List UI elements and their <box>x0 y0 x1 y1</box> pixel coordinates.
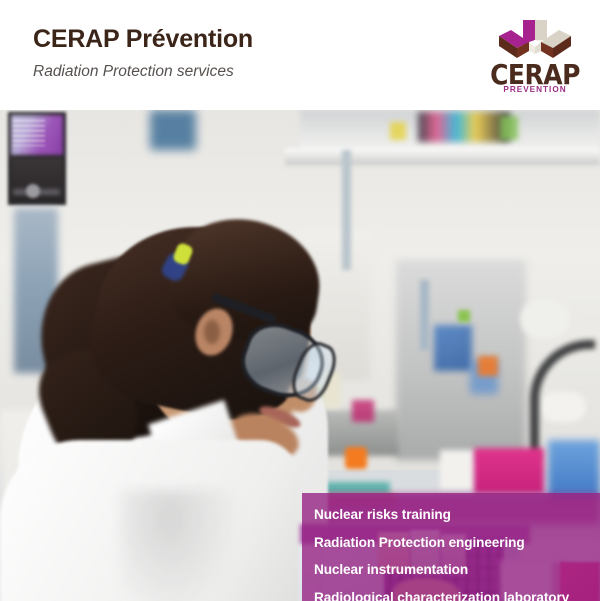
lab-orange-cap <box>478 356 498 376</box>
shelf-items <box>418 112 510 142</box>
logo-tagline: PREVENTION <box>487 86 583 94</box>
lab-blue-cylinder <box>548 440 600 500</box>
lab-green-indicator <box>458 310 470 322</box>
lab-blue-knob <box>434 325 472 371</box>
cerap-logo[interactable]: CERAP PREVENTION <box>487 18 583 100</box>
shelf-bottle-yellow <box>390 122 406 140</box>
shelf-bottle-green <box>500 116 518 140</box>
lab-tubing-2 <box>420 280 429 350</box>
brochure-page: CERAP Prévention Radiation Protection se… <box>0 0 600 601</box>
lab-bottle-pink <box>352 400 374 422</box>
lab-flask-white <box>440 450 476 490</box>
page-title: CERAP Prévention <box>33 26 253 54</box>
hero-photo: Nuclear risks training Radiation Protect… <box>0 110 600 601</box>
service-item: Radiation Protection engineering <box>314 535 590 552</box>
wall-poster-text-lines <box>13 120 45 146</box>
lab-flask-pink <box>474 448 544 494</box>
header-title-block: CERAP Prévention Radiation Protection se… <box>33 26 253 81</box>
lab-coat-shadow <box>120 490 240 601</box>
page-subtitle: Radiation Protection services <box>33 54 253 81</box>
wall-poster-logo <box>26 184 40 198</box>
page-header: CERAP Prévention Radiation Protection se… <box>0 0 600 110</box>
service-item: Nuclear risks training <box>314 507 590 524</box>
shelf-edge <box>285 148 600 165</box>
lab-tubing-1 <box>342 150 351 270</box>
service-item: Nuclear instrumentation <box>314 562 590 579</box>
service-item: Radiological characterization laboratory <box>314 590 590 601</box>
lab-valve-1 <box>520 300 570 338</box>
person-ear-inner <box>204 320 220 344</box>
lab-bottle-orange-cap <box>345 447 367 469</box>
services-panel: Nuclear risks training Radiation Protect… <box>302 493 600 601</box>
blue-fixture-top <box>150 110 196 150</box>
